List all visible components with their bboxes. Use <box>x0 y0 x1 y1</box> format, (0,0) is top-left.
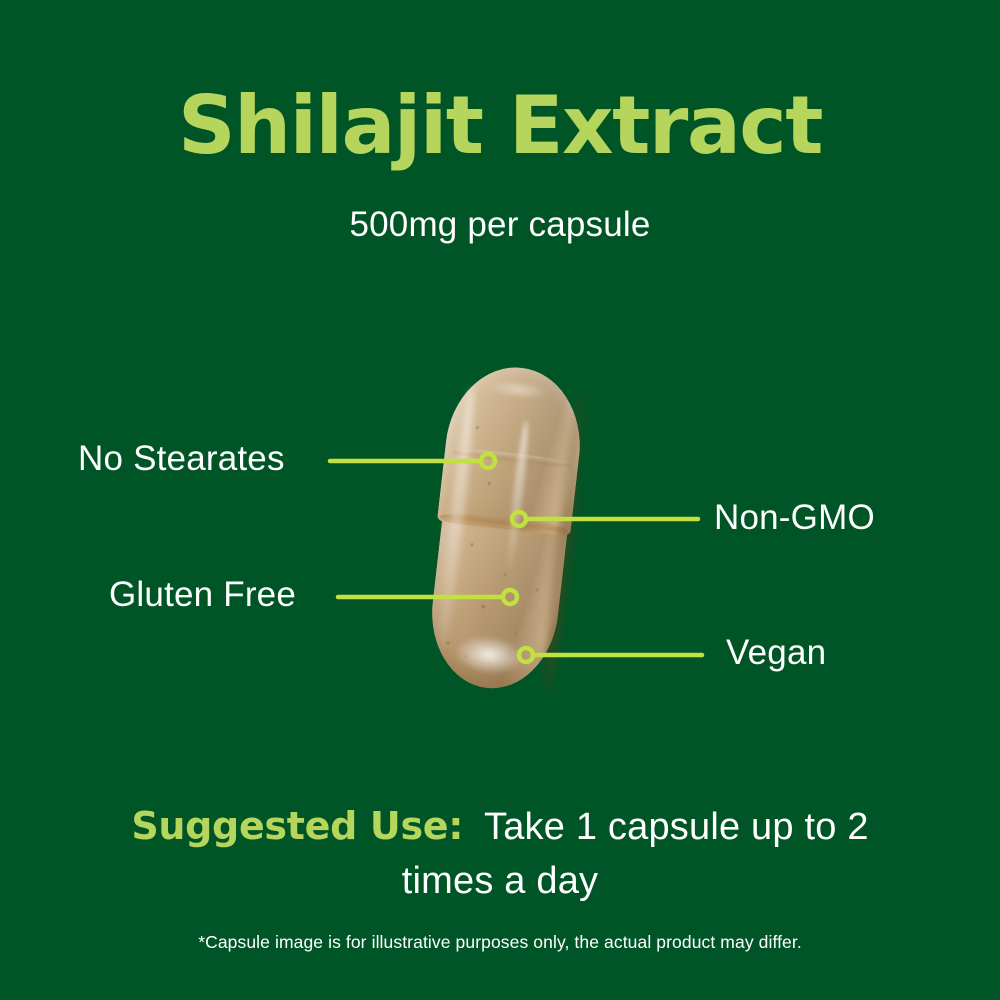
product-infographic: Shilajit Extract 500mg per capsule No St… <box>0 0 1000 1000</box>
callout-label-vegan: Vegan <box>726 635 826 670</box>
capsule-image <box>395 355 615 720</box>
callout-label-gluten-free: Gluten Free <box>109 577 296 612</box>
footer-disclaimer: *Capsule image is for illustrative purpo… <box>0 932 1000 953</box>
suggested-use-label: Suggested Use: <box>131 804 463 848</box>
suggested-use-spacer <box>463 806 484 848</box>
suggested-use-block: Suggested Use: Take 1 capsule up to 2 ti… <box>90 800 910 909</box>
page-title: Shilajit Extract <box>0 84 1000 168</box>
callout-label-non-gmo: Non-GMO <box>714 500 875 535</box>
callout-label-no-stearates: No Stearates <box>78 441 285 476</box>
page-subtitle: 500mg per capsule <box>0 205 1000 245</box>
capsule-graphic <box>417 360 594 706</box>
